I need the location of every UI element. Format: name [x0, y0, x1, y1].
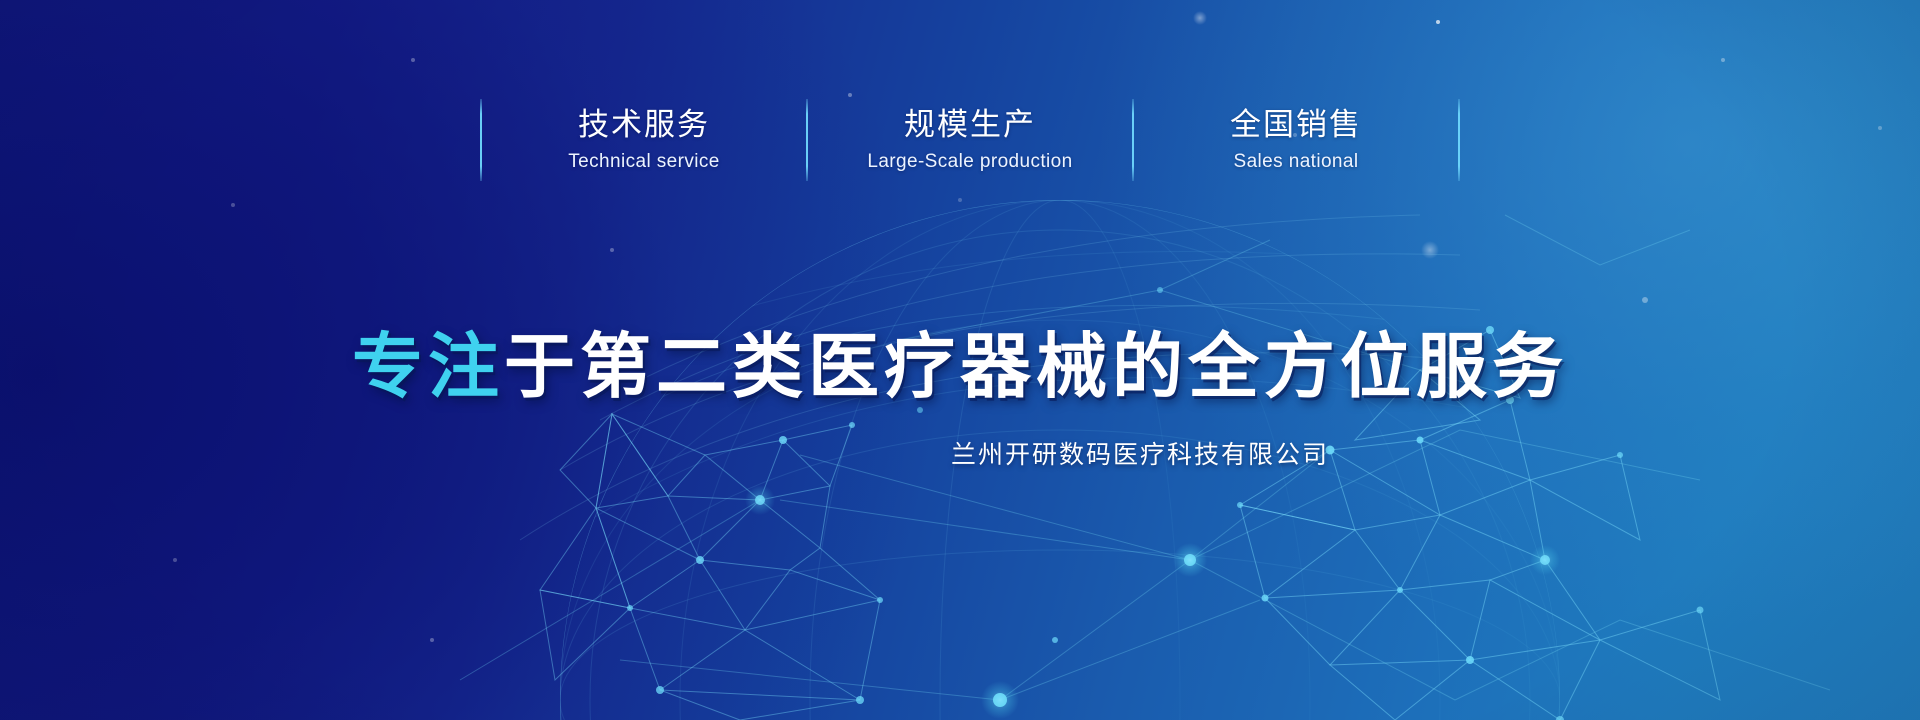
- feature-title-en: Sales national: [1234, 152, 1359, 173]
- feature-title-cn: 技术服务: [578, 107, 710, 144]
- feature-item-sales-national[interactable]: 全国销售 Sales national: [1134, 84, 1458, 196]
- feature-strip: 技术服务 Technical service 规模生产 Large-Scale …: [480, 84, 1460, 196]
- feature-title-cn: 规模生产: [904, 107, 1036, 144]
- feature-divider-3: [1458, 99, 1460, 181]
- hero-banner: 技术服务 Technical service 规模生产 Large-Scale …: [0, 0, 1920, 720]
- feature-item-technical-service[interactable]: 技术服务 Technical service: [482, 84, 806, 196]
- feature-title-en: Technical service: [568, 152, 719, 173]
- feature-item-large-scale-production[interactable]: 规模生产 Large-Scale production: [808, 84, 1132, 196]
- feature-title-en: Large-Scale production: [867, 152, 1072, 173]
- feature-title-cn: 全国销售: [1230, 107, 1362, 144]
